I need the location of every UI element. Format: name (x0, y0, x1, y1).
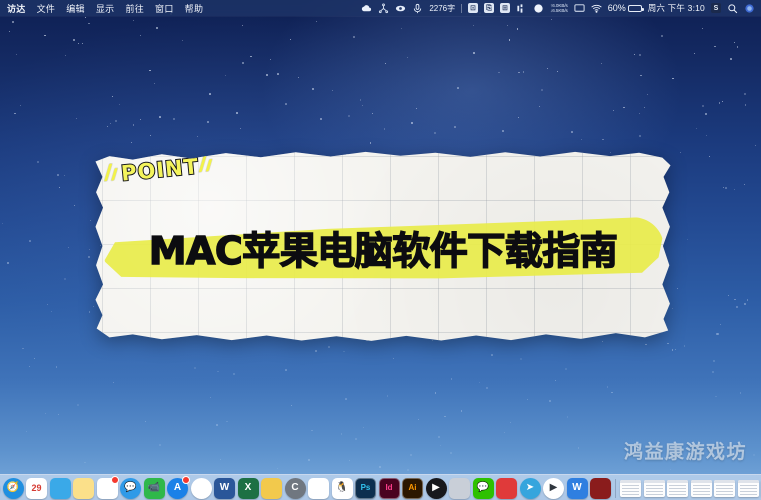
menu-bar-status: 2276字 ⊡ ⎘ ⊞ ↑6.0KB/s ↓6.5KB/s 60% (361, 2, 761, 14)
window-titlebar (620, 480, 641, 483)
window-content-line (669, 488, 686, 489)
word-count-indicator[interactable]: 2276字 (429, 3, 455, 14)
window-content-line (716, 494, 733, 495)
paper-sheet: POINT MAC苹果电脑软件下载指南 (92, 150, 674, 342)
grid-icon[interactable]: ⊞ (500, 3, 510, 13)
window-content-line (646, 485, 663, 486)
media-player-icon: ▶ (426, 478, 447, 499)
microphone-icon[interactable] (412, 3, 423, 14)
battery-percent-label: 60% (608, 3, 626, 13)
window-content-line (693, 485, 710, 486)
window-content-line (716, 491, 733, 492)
window-content-line (622, 491, 639, 492)
wps-office-icon: W (567, 478, 588, 499)
dock[interactable]: 🚀🧭29💬📹AWXC🐧PsIdAi▶💬➤▶W (0, 474, 761, 500)
minimized-window-thumbnail (620, 480, 641, 497)
dock-minimized-window-1[interactable] (643, 477, 665, 499)
minimized-window-thumbnail (667, 480, 688, 497)
window-titlebar (714, 480, 735, 483)
screenshot-tool-icon (449, 478, 470, 499)
dock-item-reminders[interactable] (96, 477, 118, 499)
notification-badge (182, 476, 190, 484)
dock-item-indesign[interactable]: Id (378, 477, 400, 499)
watermark-text: 鸿益康游戏坊 (624, 437, 747, 464)
stats-icon[interactable] (516, 3, 527, 14)
dock-minimized-window-3[interactable] (690, 477, 712, 499)
dock-item-microsoft-word[interactable]: W (214, 477, 236, 499)
microsoft-excel-icon: X (238, 478, 259, 499)
dock-item-qq[interactable]: 🐧 (331, 477, 353, 499)
dock-item-app-store[interactable]: A (167, 477, 189, 499)
dock-item-facetime[interactable]: 📹 (143, 477, 165, 499)
dock-item-illustrator[interactable]: Ai (402, 477, 424, 499)
network-download-speed: ↓6.5KB/s (550, 8, 568, 13)
menu-bar-items: 访达文件编辑显示前往窗口帮助 (0, 2, 203, 15)
sogou-input-icon[interactable]: S (711, 3, 721, 13)
wifi-icon[interactable] (591, 3, 602, 14)
menu-divider (461, 4, 462, 13)
dock-item-launchpad[interactable]: 🚀 (0, 477, 1, 499)
keynote-icon (50, 478, 71, 499)
window-content-line (716, 485, 733, 486)
screenshot-icon[interactable]: ⊡ (468, 3, 478, 13)
window-titlebar (691, 480, 712, 483)
network-share-icon[interactable] (378, 3, 389, 14)
dock-minimized-window-0[interactable] (620, 477, 642, 499)
window-content-line (740, 494, 757, 495)
poster-card: POINT MAC苹果电脑软件下载指南 (92, 150, 674, 342)
dock-item-cleanmymac[interactable]: C (284, 477, 306, 499)
notes-icon (73, 478, 94, 499)
battery-indicator[interactable]: 60% (608, 3, 642, 13)
window-content-line (622, 485, 639, 486)
adobe-acrobat-icon (590, 478, 611, 499)
window-content-line (693, 491, 710, 492)
minimized-window-thumbnail (644, 480, 665, 497)
window-content-line (646, 491, 663, 492)
iina-player-icon: ▶ (543, 478, 564, 499)
indesign-icon: Id (379, 478, 400, 499)
window-titlebar (667, 480, 688, 483)
illustrator-icon: Ai (402, 478, 423, 499)
dock-minimized-window-5[interactable] (737, 477, 759, 499)
kugou-music-icon (496, 478, 517, 499)
window-content-line (669, 491, 686, 492)
window-content-line (646, 494, 663, 495)
menu-bar: 访达文件编辑显示前往窗口帮助 2276字 ⊡ ⎘ ⊞ (0, 0, 761, 16)
dock-item-screenshot-tool[interactable] (449, 477, 471, 499)
baidu-netdisk-icon (308, 478, 329, 499)
calendar-icon: 29 (26, 478, 47, 499)
wechat-icon: 💬 (473, 478, 494, 499)
battery-icon (628, 5, 642, 12)
slash-marks-left (106, 163, 119, 186)
moon-icon[interactable] (533, 3, 544, 14)
window-content-line (740, 488, 757, 489)
google-chrome-icon (191, 478, 212, 499)
dock-item-microsoft-excel[interactable]: X (237, 477, 259, 499)
dock-item-wechat[interactable]: 💬 (472, 477, 494, 499)
dock-item-baidu-netdisk[interactable] (308, 477, 330, 499)
dock-item-iina-player[interactable]: ▶ (543, 477, 565, 499)
menu-bar-clock[interactable]: 周六 下午 3:10 (648, 2, 705, 14)
window-content-line (622, 494, 639, 495)
minimized-window-thumbnail (714, 480, 735, 497)
photoshop-icon: Ps (355, 478, 376, 499)
dock-minimized-window-2[interactable] (667, 477, 689, 499)
menu-item-5[interactable]: 窗口 (155, 2, 174, 15)
menu-item-3[interactable]: 显示 (96, 2, 115, 15)
dock-separator (615, 479, 616, 498)
messages-icon: 💬 (120, 478, 141, 499)
dock-item-notes[interactable] (73, 477, 95, 499)
dock-item-maps[interactable] (261, 477, 283, 499)
maps-icon (261, 478, 282, 499)
dock-item-messages[interactable]: 💬 (120, 477, 142, 499)
dock-item-kugou-music[interactable] (496, 477, 518, 499)
spotlight-search-icon[interactable] (727, 3, 738, 14)
dock-item-safari[interactable]: 🧭 (2, 477, 24, 499)
window-titlebar (738, 480, 759, 483)
cloud-sync-icon[interactable] (361, 3, 372, 14)
window-content-line (693, 494, 710, 495)
vpn-icon[interactable] (395, 3, 406, 14)
minimized-window-thumbnail (738, 480, 759, 497)
notification-badge (111, 476, 119, 484)
desktop-screen: 访达文件编辑显示前往窗口帮助 2276字 ⊡ ⎘ ⊞ (0, 0, 761, 500)
minimized-window-thumbnail (691, 480, 712, 497)
dock-item-google-chrome[interactable] (190, 477, 212, 499)
window-content-line (716, 488, 733, 489)
menu-item-6[interactable]: 帮助 (185, 2, 204, 15)
slash-marks-right (201, 154, 214, 177)
window-content-line (740, 485, 757, 486)
menu-item-2[interactable]: 编辑 (66, 2, 85, 15)
safari-icon: 🧭 (3, 478, 24, 499)
menu-item-4[interactable]: 前往 (125, 2, 144, 15)
facetime-icon: 📹 (144, 478, 165, 499)
window-content-line (646, 488, 663, 489)
cleanmymac-icon: C (285, 478, 306, 499)
dock-item-telegram[interactable]: ➤ (519, 477, 541, 499)
window-content-line (622, 488, 639, 489)
dock-item-photoshop[interactable]: Ps (355, 477, 377, 499)
qq-icon: 🐧 (332, 478, 353, 499)
network-speed-indicator[interactable]: ↑6.0KB/s ↓6.5KB/s (550, 3, 568, 13)
dock-item-media-player[interactable]: ▶ (425, 477, 447, 499)
dock-item-adobe-acrobat[interactable] (590, 477, 612, 499)
menu-item-0[interactable]: 访达 (7, 2, 26, 15)
dock-item-calendar[interactable]: 29 (26, 477, 48, 499)
window-content-line (693, 488, 710, 489)
window-content-line (669, 485, 686, 486)
microsoft-word-icon: W (214, 478, 235, 499)
window-titlebar (644, 480, 665, 483)
window-content-line (740, 491, 757, 492)
dock-item-wps-office[interactable]: W (566, 477, 588, 499)
clipboard-icon[interactable]: ⎘ (484, 3, 494, 13)
dock-minimized-window-4[interactable] (714, 477, 736, 499)
dock-item-keynote[interactable] (49, 477, 71, 499)
menu-item-1[interactable]: 文件 (37, 2, 56, 15)
display-icon[interactable] (574, 3, 585, 14)
poster-title: MAC苹果电脑软件下载指南 (92, 228, 674, 274)
window-content-line (669, 494, 686, 495)
control-center-icon[interactable] (744, 3, 755, 14)
telegram-icon: ➤ (520, 478, 541, 499)
